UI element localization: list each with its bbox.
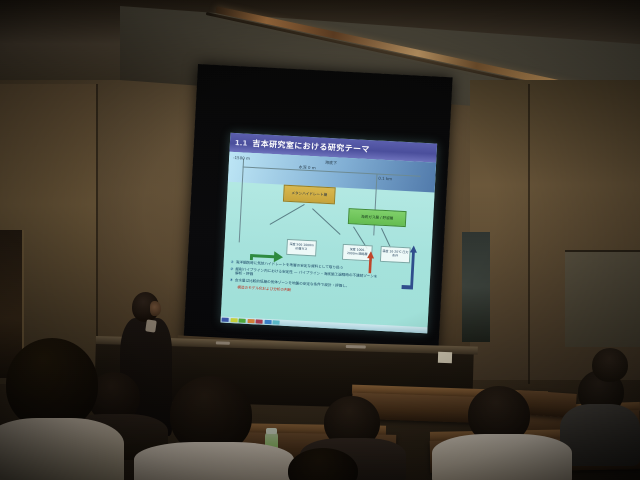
slide-bullet-list: ① 海洋掘削時に気体ハイドレートを地層の安定な資料として取り扱う ② 掘削パイプ… bbox=[229, 260, 380, 300]
audience-front-left-body bbox=[0, 418, 124, 480]
blue-arrow-icon bbox=[399, 245, 417, 294]
leader-line-1 bbox=[270, 204, 305, 224]
detail-box-1: 深度 500-1000m 砂層ガス bbox=[286, 239, 317, 257]
audience-center-body bbox=[134, 442, 294, 480]
slide-title: 吉本研究室における研究テーマ bbox=[252, 138, 370, 155]
taskbar-chip bbox=[222, 318, 229, 322]
projection-screen: 1.1 吉本研究室における研究テーマ -1500 m 海底下 水深 0 m 0.… bbox=[183, 64, 452, 359]
taskbar-chip bbox=[230, 318, 237, 322]
podium-paper bbox=[438, 352, 452, 363]
bullet-number: ① bbox=[231, 260, 234, 265]
projected-slide: 1.1 吉本研究室における研究テーマ -1500 m 海底下 水深 0 m 0.… bbox=[221, 133, 438, 334]
label-left-scale: -1500 m bbox=[233, 155, 250, 161]
label-right: 0.1 km bbox=[378, 176, 392, 182]
slide-title-number: 1.1 bbox=[235, 139, 248, 148]
bullet-number: ② bbox=[230, 267, 234, 276]
audience-back-right-body bbox=[560, 404, 640, 466]
bullet-text: 構造のモデル化および分析の判断 bbox=[237, 286, 291, 293]
taskbar-chip bbox=[239, 318, 246, 322]
leader-line-2 bbox=[312, 208, 340, 234]
presenter-face bbox=[150, 301, 161, 316]
taskbar-chip bbox=[256, 319, 263, 323]
green-layer-box: 海底ガス層 / 貯留層 bbox=[348, 208, 407, 227]
lecture-hall-photo: 1.1 吉本研究室における研究テーマ -1500 m 海底下 水深 0 m 0.… bbox=[0, 0, 640, 480]
audience-right-body bbox=[432, 434, 572, 480]
chalk-piece bbox=[346, 345, 366, 349]
label-depth-top: 水深 0 m bbox=[299, 164, 316, 171]
taskbar-chip bbox=[272, 320, 279, 324]
taskbar-chip bbox=[264, 320, 271, 324]
wall-right-recess bbox=[462, 232, 490, 342]
bullet-number: ③ bbox=[230, 278, 233, 283]
wall-seam-right bbox=[528, 84, 530, 384]
gold-layer-box: メタンハイドレート層 bbox=[283, 185, 336, 205]
wall-right-panel-board bbox=[565, 250, 640, 347]
audience-far-right-head bbox=[592, 348, 628, 382]
slide-body: -1500 m 海底下 水深 0 m 0.1 km メタンハイドレート層 海底ガ… bbox=[221, 152, 437, 334]
bottle-cap bbox=[266, 428, 277, 434]
presenter-collar bbox=[145, 319, 157, 332]
chalk-piece bbox=[216, 341, 230, 344]
label-mid: 海底下 bbox=[325, 160, 337, 167]
audience-front-left-head bbox=[6, 338, 98, 430]
taskbar-chip bbox=[247, 319, 254, 323]
